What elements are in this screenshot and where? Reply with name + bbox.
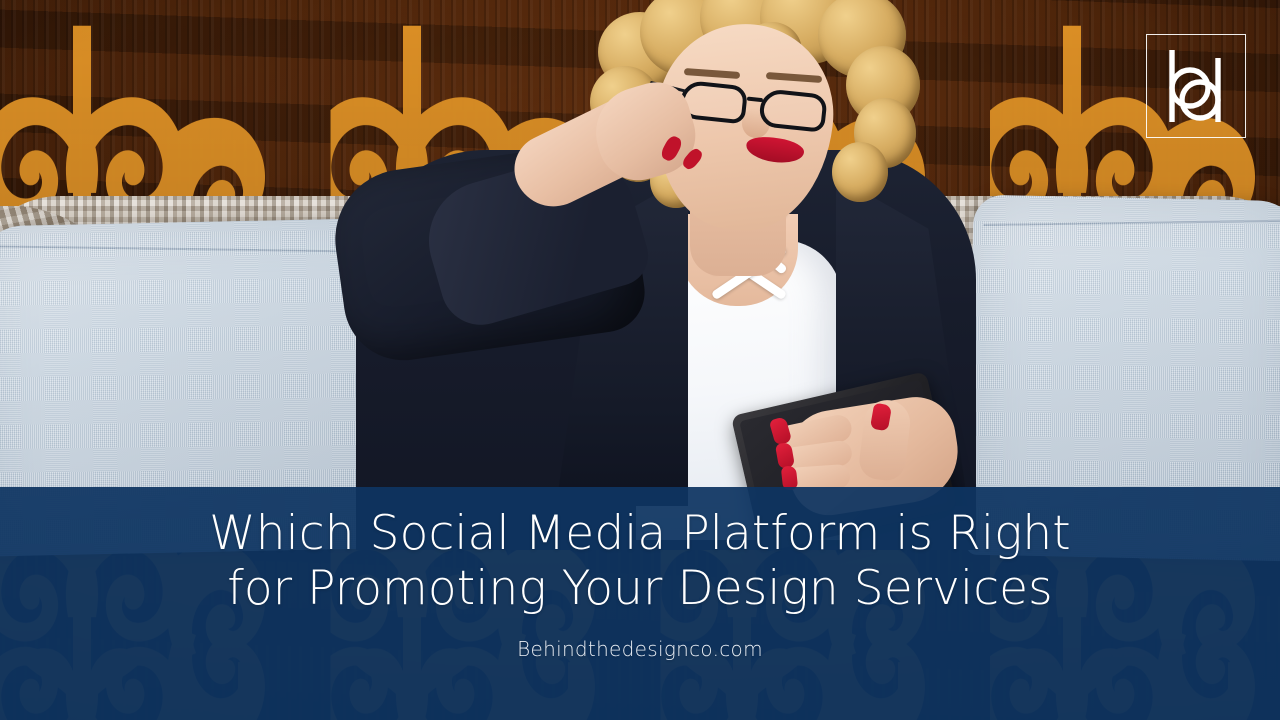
title-banner: Which Social Media Platform is Right for… [0,487,1280,720]
website-url: Behindthedesignco.com [0,637,1280,661]
headline-line-1: Which Social Media Platform is Right [209,506,1071,561]
headline-line-2: for Promoting Your Design Services [0,561,1280,616]
bd-monogram-logo[interactable] [1146,34,1246,138]
page-title: Which Social Media Platform is Right for… [0,506,1280,616]
feature-image-canvas: Which Social Media Platform is Right for… [0,0,1280,720]
